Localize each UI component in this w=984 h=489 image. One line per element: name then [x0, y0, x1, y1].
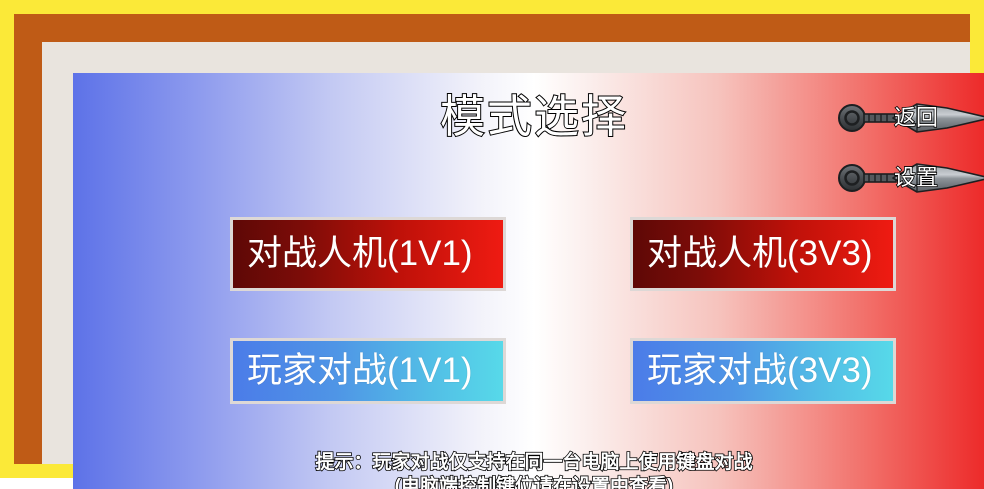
mode-button-pvp-1v1[interactable]: 玩家对战(1V1) — [230, 338, 506, 404]
mode-button-label: 玩家对战(1V1) — [233, 352, 473, 390]
frame-orange-band: 模式选择 — [14, 14, 970, 464]
arrow-spear-icon — [835, 101, 984, 135]
mode-button-pvp-3v3[interactable]: 玩家对战(3V3) — [630, 338, 896, 404]
hint-text: 提示：玩家对战仅支持在同一台电脑上使用键盘对战 (电脑端控制键位请在设置中查看) — [73, 451, 984, 489]
mode-button-label: 对战人机(1V1) — [233, 235, 473, 273]
frame-inner-bevel: 模式选择 — [42, 42, 970, 464]
arrow-spear-icon — [835, 161, 984, 195]
mode-button-ai-3v3[interactable]: 对战人机(3V3) — [630, 217, 896, 291]
back-button[interactable]: 返回 — [835, 101, 984, 135]
mode-select-panel: 模式选择 — [73, 73, 984, 489]
mode-button-label: 对战人机(3V3) — [633, 235, 873, 273]
game-screen: 模式选择 — [0, 0, 984, 478]
hint-line-1: 提示：玩家对战仅支持在同一台电脑上使用键盘对战 — [73, 451, 984, 475]
settings-button[interactable]: 设置 — [835, 161, 984, 195]
hint-line-2: (电脑端控制键位请在设置中查看) — [73, 475, 984, 489]
mode-button-ai-1v1[interactable]: 对战人机(1V1) — [230, 217, 506, 291]
mode-button-label: 玩家对战(3V3) — [633, 352, 873, 390]
